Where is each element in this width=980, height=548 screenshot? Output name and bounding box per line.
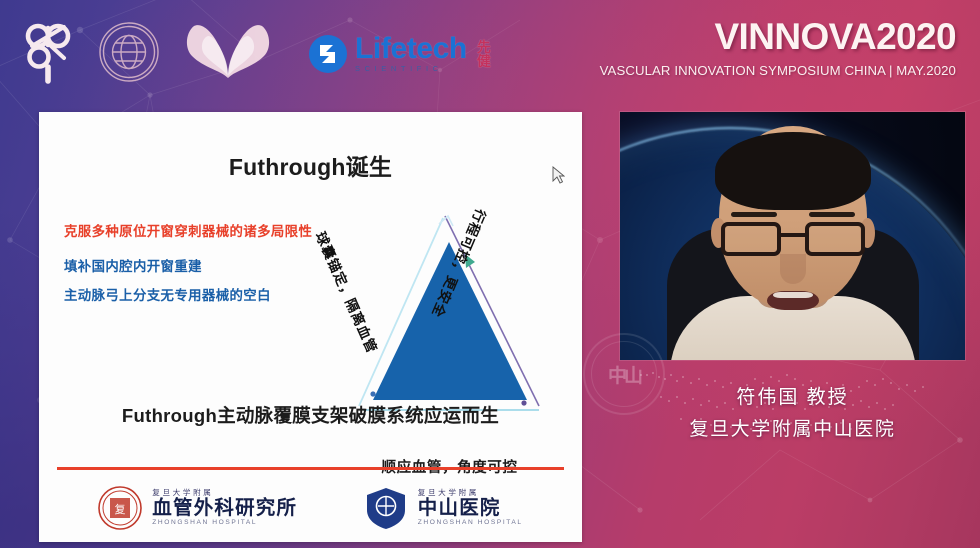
speaker-head — [719, 126, 867, 308]
event-title: VINNOVA2020 — [600, 18, 956, 56]
screen: Lifetech SCIENTIFIC 先 健 VINNOVA2020 VASC… — [0, 0, 980, 548]
lifetech-mark-icon — [308, 34, 348, 74]
lifetech-chinese-line1: 先 — [477, 40, 491, 54]
lifetech-chinese-name: 先 健 — [477, 40, 491, 69]
slide-conclusion-text: Futhrough主动脉覆膜支架破膜系统应运而生 — [39, 402, 582, 428]
institution-english-name: ZHONGSHAN HOSPITAL — [152, 520, 297, 527]
cgc-knot-logo — [20, 19, 76, 90]
lifetech-wordmark: Lifetech — [355, 35, 467, 64]
institution-name: 血管外科研究所 — [152, 498, 297, 518]
glasses-bridge — [781, 233, 805, 237]
speaker-organization: 复旦大学附属中山医院 — [620, 414, 965, 441]
event-branding: VINNOVA2020 VASCULAR INNOVATION SYMPOSIU… — [600, 18, 956, 78]
arrow-cursor — [552, 166, 565, 185]
fudan-vascular-seal-icon: 复 — [98, 486, 142, 530]
header-banner: Lifetech SCIENTIFIC 先 健 VINNOVA2020 VASC… — [0, 0, 980, 106]
lifetech-logo: Lifetech SCIENTIFIC 先 健 — [308, 34, 491, 74]
speaker-mouth — [767, 291, 819, 310]
speaker-name-overlay: 符伟国 教授 复旦大学附属中山医院 — [620, 382, 965, 441]
institution-zhongshan-hospital: 复旦大学附属 中山医院 ZHONGSHAN HOSPITAL — [364, 486, 523, 530]
institution-name: 中山医院 — [418, 498, 523, 518]
zhongshan-shield-seal-icon — [364, 486, 408, 530]
institution-vascular-institute: 复 复旦大学附属 血管外科研究所 ZHONGSHAN HOSPITAL — [98, 486, 297, 530]
event-subtitle: VASCULAR INNOVATION SYMPOSIUM CHINA | MA… — [600, 63, 956, 78]
triangle-diagram: 球囊锚定，隔离血管 行程可控，更安全 顺应血管，角度可控 — [327, 194, 572, 494]
globe-seal-logo — [98, 21, 160, 88]
lifetech-subtitle: SCIENTIFIC — [355, 64, 467, 73]
slide-divider-rule — [57, 467, 564, 470]
sponsor-logo-row: Lifetech SCIENTIFIC 先 健 — [20, 20, 491, 88]
glasses-lens-left — [721, 222, 781, 256]
slide-title: Futhrough诞生 — [39, 148, 582, 182]
wings-logo — [182, 20, 274, 89]
institution-english-name: ZHONGSHAN HOSPITAL — [418, 520, 523, 527]
speaker-name: 符伟国 教授 — [620, 382, 965, 409]
speaker-video-feed[interactable] — [620, 112, 965, 360]
lifetech-chinese-line2: 健 — [477, 54, 491, 68]
speaker-glasses — [721, 222, 865, 256]
slide-footer-logos: 复 复旦大学附属 血管外科研究所 ZHONGSHAN HOSPITAL 复旦大学… — [39, 477, 582, 539]
presentation-slide[interactable]: Futhrough诞生 克服多种原位开窗穿刺器械的诸多局限性 填补国内腔内开窗重… — [39, 112, 582, 542]
speaker-hair — [715, 132, 871, 210]
bullet-item-blue-1: 填补国内腔内开窗重建 — [64, 255, 364, 275]
speaker-nose — [780, 254, 806, 284]
speaker-eyebrow-left — [731, 212, 777, 217]
glasses-lens-right — [805, 222, 865, 256]
svg-text:复: 复 — [115, 502, 126, 516]
speaker-eyebrow-right — [809, 212, 855, 217]
bullet-item-blue-2: 主动脉弓上分支无专用器械的空白 — [64, 284, 364, 304]
